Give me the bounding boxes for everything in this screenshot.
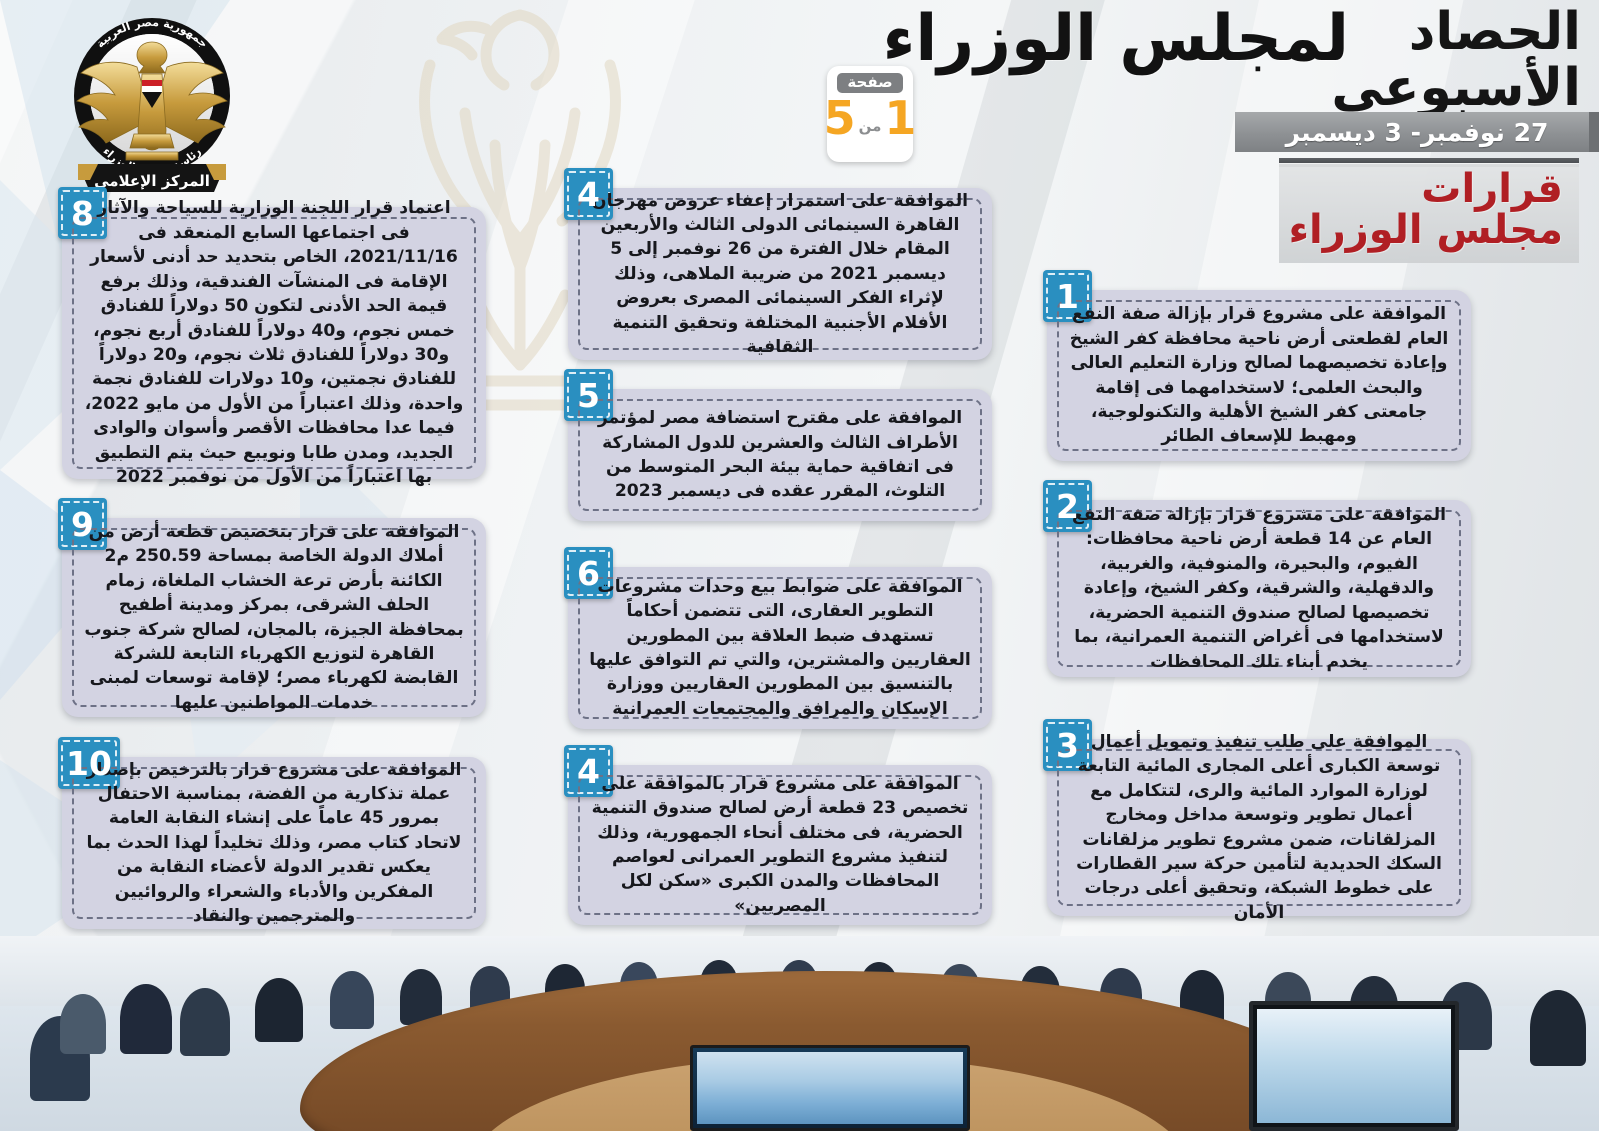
cabinet-media-center-logo: جمهورية مصر العربية رئاسة مجلس الوزراء ا… <box>64 12 240 198</box>
date-bar-edge <box>1589 112 1599 152</box>
decision-card-7[interactable]: 4 الموافقة على مشروع قرار بالموافقة على … <box>568 765 992 925</box>
decision-card-6-inner: الموافقة على ضوابط بيع وحدات مشروعات الت… <box>578 577 982 719</box>
page-indicator-of: من <box>859 117 882 141</box>
page-indicator-caption: صفحة <box>837 73 902 93</box>
decision-card-5[interactable]: 5 الموافقة على مقترح استضافة مصر لمؤتمر … <box>568 389 992 521</box>
decision-card-3[interactable]: 3 الموافقة على طلب تنفيذ وتمويل أعمال تو… <box>1047 739 1471 916</box>
decision-card-10[interactable]: 10 الموافقة على مشروع قرار بالترخيص بإصد… <box>62 757 486 929</box>
decision-card-8[interactable]: 8 اعتماد قرار اللجنة الوزارية للسياحة وا… <box>62 207 486 479</box>
page-title-main: لمجلس الوزراء <box>883 2 1349 76</box>
decision-card-9[interactable]: 9 الموافقة على قرار بتخصيص قطعة أرض من أ… <box>62 518 486 717</box>
decision-card-10-text: الموافقة على مشروع قرار بالترخيص بإصدار … <box>83 758 465 929</box>
section-heading-line1: قرارات <box>1289 169 1563 210</box>
svg-text:المركز الإعلامى: المركز الإعلامى <box>94 172 210 190</box>
page-indicator-total: 5 <box>824 95 856 141</box>
decision-card-5-inner: الموافقة على مقترح استضافة مصر لمؤتمر ال… <box>578 399 982 511</box>
decision-card-7-text: الموافقة على مشروع قرار بالموافقة على تخ… <box>589 772 971 919</box>
page-indicator-current: 1 <box>884 95 916 141</box>
page-title-line1: الحصاد <box>1409 2 1581 62</box>
decision-card-1[interactable]: 1 الموافقة على مشروع قرار بإزالة صفة الن… <box>1047 290 1471 461</box>
decision-card-2-inner: الموافقة على مشروع قرار بإزالة صفة النفع… <box>1057 510 1461 667</box>
date-range-bar: 27 نوفمبر- 3 ديسمبر <box>1235 112 1599 152</box>
decision-card-3-text: الموافقة على طلب تنفيذ وتمويل أعمال توسع… <box>1068 730 1450 925</box>
decision-card-9-inner: الموافقة على قرار بتخصيص قطعة أرض من أمل… <box>72 528 476 707</box>
decision-card-8-text: اعتماد قرار اللجنة الوزارية للسياحة والآ… <box>83 196 465 489</box>
decision-card-1-inner: الموافقة على مشروع قرار بإزالة صفة النفع… <box>1057 300 1461 451</box>
decision-card-10-inner: الموافقة على مشروع قرار بالترخيص بإصدار … <box>72 767 476 919</box>
decision-card-9-text: الموافقة على قرار بتخصيص قطعة أرض من أمل… <box>83 520 465 715</box>
decision-card-10-badge: 10 <box>58 737 120 789</box>
section-heading-line2: مجلس الوزراء <box>1289 210 1563 251</box>
section-heading-panel: قرارات مجلس الوزراء <box>1279 163 1579 263</box>
decision-card-4[interactable]: 4 الموافقة على استمرار إعفاء عروض مهرجان… <box>568 188 992 360</box>
presentation-screen <box>690 1045 970 1131</box>
decision-card-6-text: الموافقة على ضوابط بيع وحدات مشروعات الت… <box>589 575 971 722</box>
page-title-line2: الأسبوعى <box>1331 58 1581 118</box>
decision-card-8-inner: اعتماد قرار اللجنة الوزارية للسياحة والآ… <box>72 217 476 469</box>
side-monitor <box>1249 1001 1459 1131</box>
decision-card-4-text: الموافقة على استمرار إعفاء عروض مهرجان ا… <box>589 189 971 360</box>
decision-card-7-inner: الموافقة على مشروع قرار بالموافقة على تخ… <box>578 775 982 915</box>
decision-card-5-text: الموافقة على مقترح استضافة مصر لمؤتمر ال… <box>589 406 971 504</box>
date-range-text: 27 نوفمبر- 3 ديسمبر <box>1286 118 1549 147</box>
decision-card-2[interactable]: 2 الموافقة على مشروع قرار بإزالة صفة الن… <box>1047 500 1471 677</box>
decision-card-6[interactable]: 6 الموافقة على ضوابط بيع وحدات مشروعات ا… <box>568 567 992 729</box>
infographic-page: جمهورية مصر العربية رئاسة مجلس الوزراء ا… <box>0 0 1599 1131</box>
decision-card-3-inner: الموافقة على طلب تنفيذ وتمويل أعمال توسع… <box>1057 749 1461 906</box>
decision-card-1-text: الموافقة على مشروع قرار بإزالة صفة النفع… <box>1068 302 1450 449</box>
decision-card-2-text: الموافقة على مشروع قرار بإزالة صفة النفع… <box>1068 503 1450 674</box>
cabinet-meeting-photo <box>0 936 1599 1131</box>
page-indicator: صفحة 1 من 5 <box>827 66 913 162</box>
decision-card-4-inner: الموافقة على استمرار إعفاء عروض مهرجان ا… <box>578 198 982 350</box>
